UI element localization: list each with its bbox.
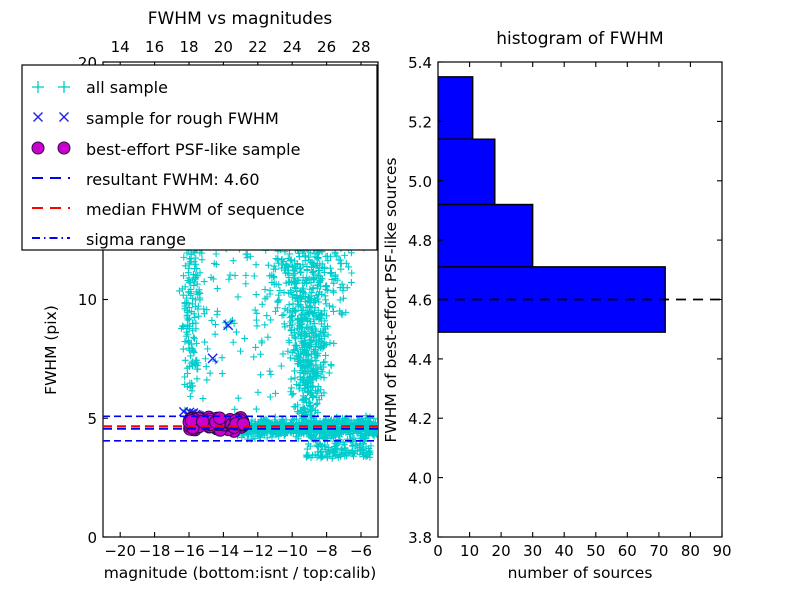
right-ytick-label: 5.4 [408, 54, 432, 72]
left-xtick-label: −10 [276, 542, 308, 560]
right-ytick-label: 4.0 [408, 470, 432, 488]
right-xtick-label: 40 [555, 542, 574, 560]
figure-canvas: −20 −18 −16 −14 −12 −10 −8 −6 14 16 18 2… [0, 0, 800, 600]
right-ytick-label: 4.6 [408, 292, 432, 310]
right-xtick-label: 50 [586, 542, 605, 560]
right-yaxis-label: FWHM of best-effort PSF-like sources [382, 157, 400, 442]
right-ytick-label: 4.4 [408, 351, 432, 369]
left-ytick-label: 5 [87, 410, 97, 428]
right-ytick-label: 4.8 [408, 232, 432, 250]
left-xtick-top-label: 24 [283, 38, 302, 56]
right-xtick-label: 20 [492, 542, 511, 560]
left-xtick-top-label: 22 [248, 38, 267, 56]
legend: all sample sample for rough FWHM best-ef… [22, 65, 377, 250]
left-xtick-top-label: 26 [317, 38, 336, 56]
legend-label: best-effort PSF-like sample [86, 140, 300, 159]
left-ytick-label: 10 [78, 291, 97, 309]
right-ytick-label: 5.2 [408, 113, 432, 131]
legend-label: sigma range [86, 230, 186, 249]
left-xtick-label: −20 [104, 542, 136, 560]
legend-label: resultant FWHM: 4.60 [86, 170, 260, 189]
histogram-bar [438, 205, 533, 267]
right-xaxis-label: number of sources [508, 564, 653, 582]
left-xtick-top-label: 20 [214, 38, 233, 56]
histogram-bar [438, 139, 495, 204]
left-xtick-top-label: 18 [179, 38, 198, 56]
legend-label: median FHWM of sequence [86, 200, 305, 219]
right-ytick-label: 4.2 [408, 410, 432, 428]
right-xtick-label: 10 [460, 542, 479, 560]
right-panel-title: histogram of FWHM [496, 29, 663, 49]
left-xtick-label: −14 [208, 542, 240, 560]
left-xtick-label: −6 [350, 542, 372, 560]
legend-label: all sample [86, 78, 168, 97]
left-xtick-top-label: 14 [111, 38, 130, 56]
right-xtick-label: 30 [523, 542, 542, 560]
left-xtick-label: −8 [316, 542, 338, 560]
left-yaxis-label: FWHM (pix) [42, 305, 60, 395]
left-xtick-label: −18 [139, 542, 171, 560]
right-xtick-label: 70 [649, 542, 668, 560]
left-ytick-label: 0 [87, 529, 97, 547]
left-xtick-label: −12 [242, 542, 274, 560]
series-psf-like [183, 411, 250, 437]
right-xtick-label: 90 [712, 542, 731, 560]
matplotlib-figure: −20 −18 −16 −14 −12 −10 −8 −6 14 16 18 2… [0, 0, 800, 600]
left-xtick-top-label: 28 [351, 38, 370, 56]
histogram-bar [438, 77, 473, 139]
left-panel-title: FWHM vs magnitudes [148, 9, 333, 29]
right-ytick-label: 3.8 [408, 529, 432, 547]
legend-label: sample for rough FWHM [86, 109, 279, 128]
right-ytick-label: 5.0 [408, 173, 432, 191]
right-xtick-label: 60 [618, 542, 637, 560]
right-xtick-label: 0 [433, 542, 443, 560]
right-xtick-label: 80 [681, 542, 700, 560]
left-xtick-top-label: 16 [145, 38, 164, 56]
left-xtick-label: −16 [173, 542, 205, 560]
left-xaxis-label: magnitude (bottom:isnt / top:calib) [104, 564, 377, 582]
